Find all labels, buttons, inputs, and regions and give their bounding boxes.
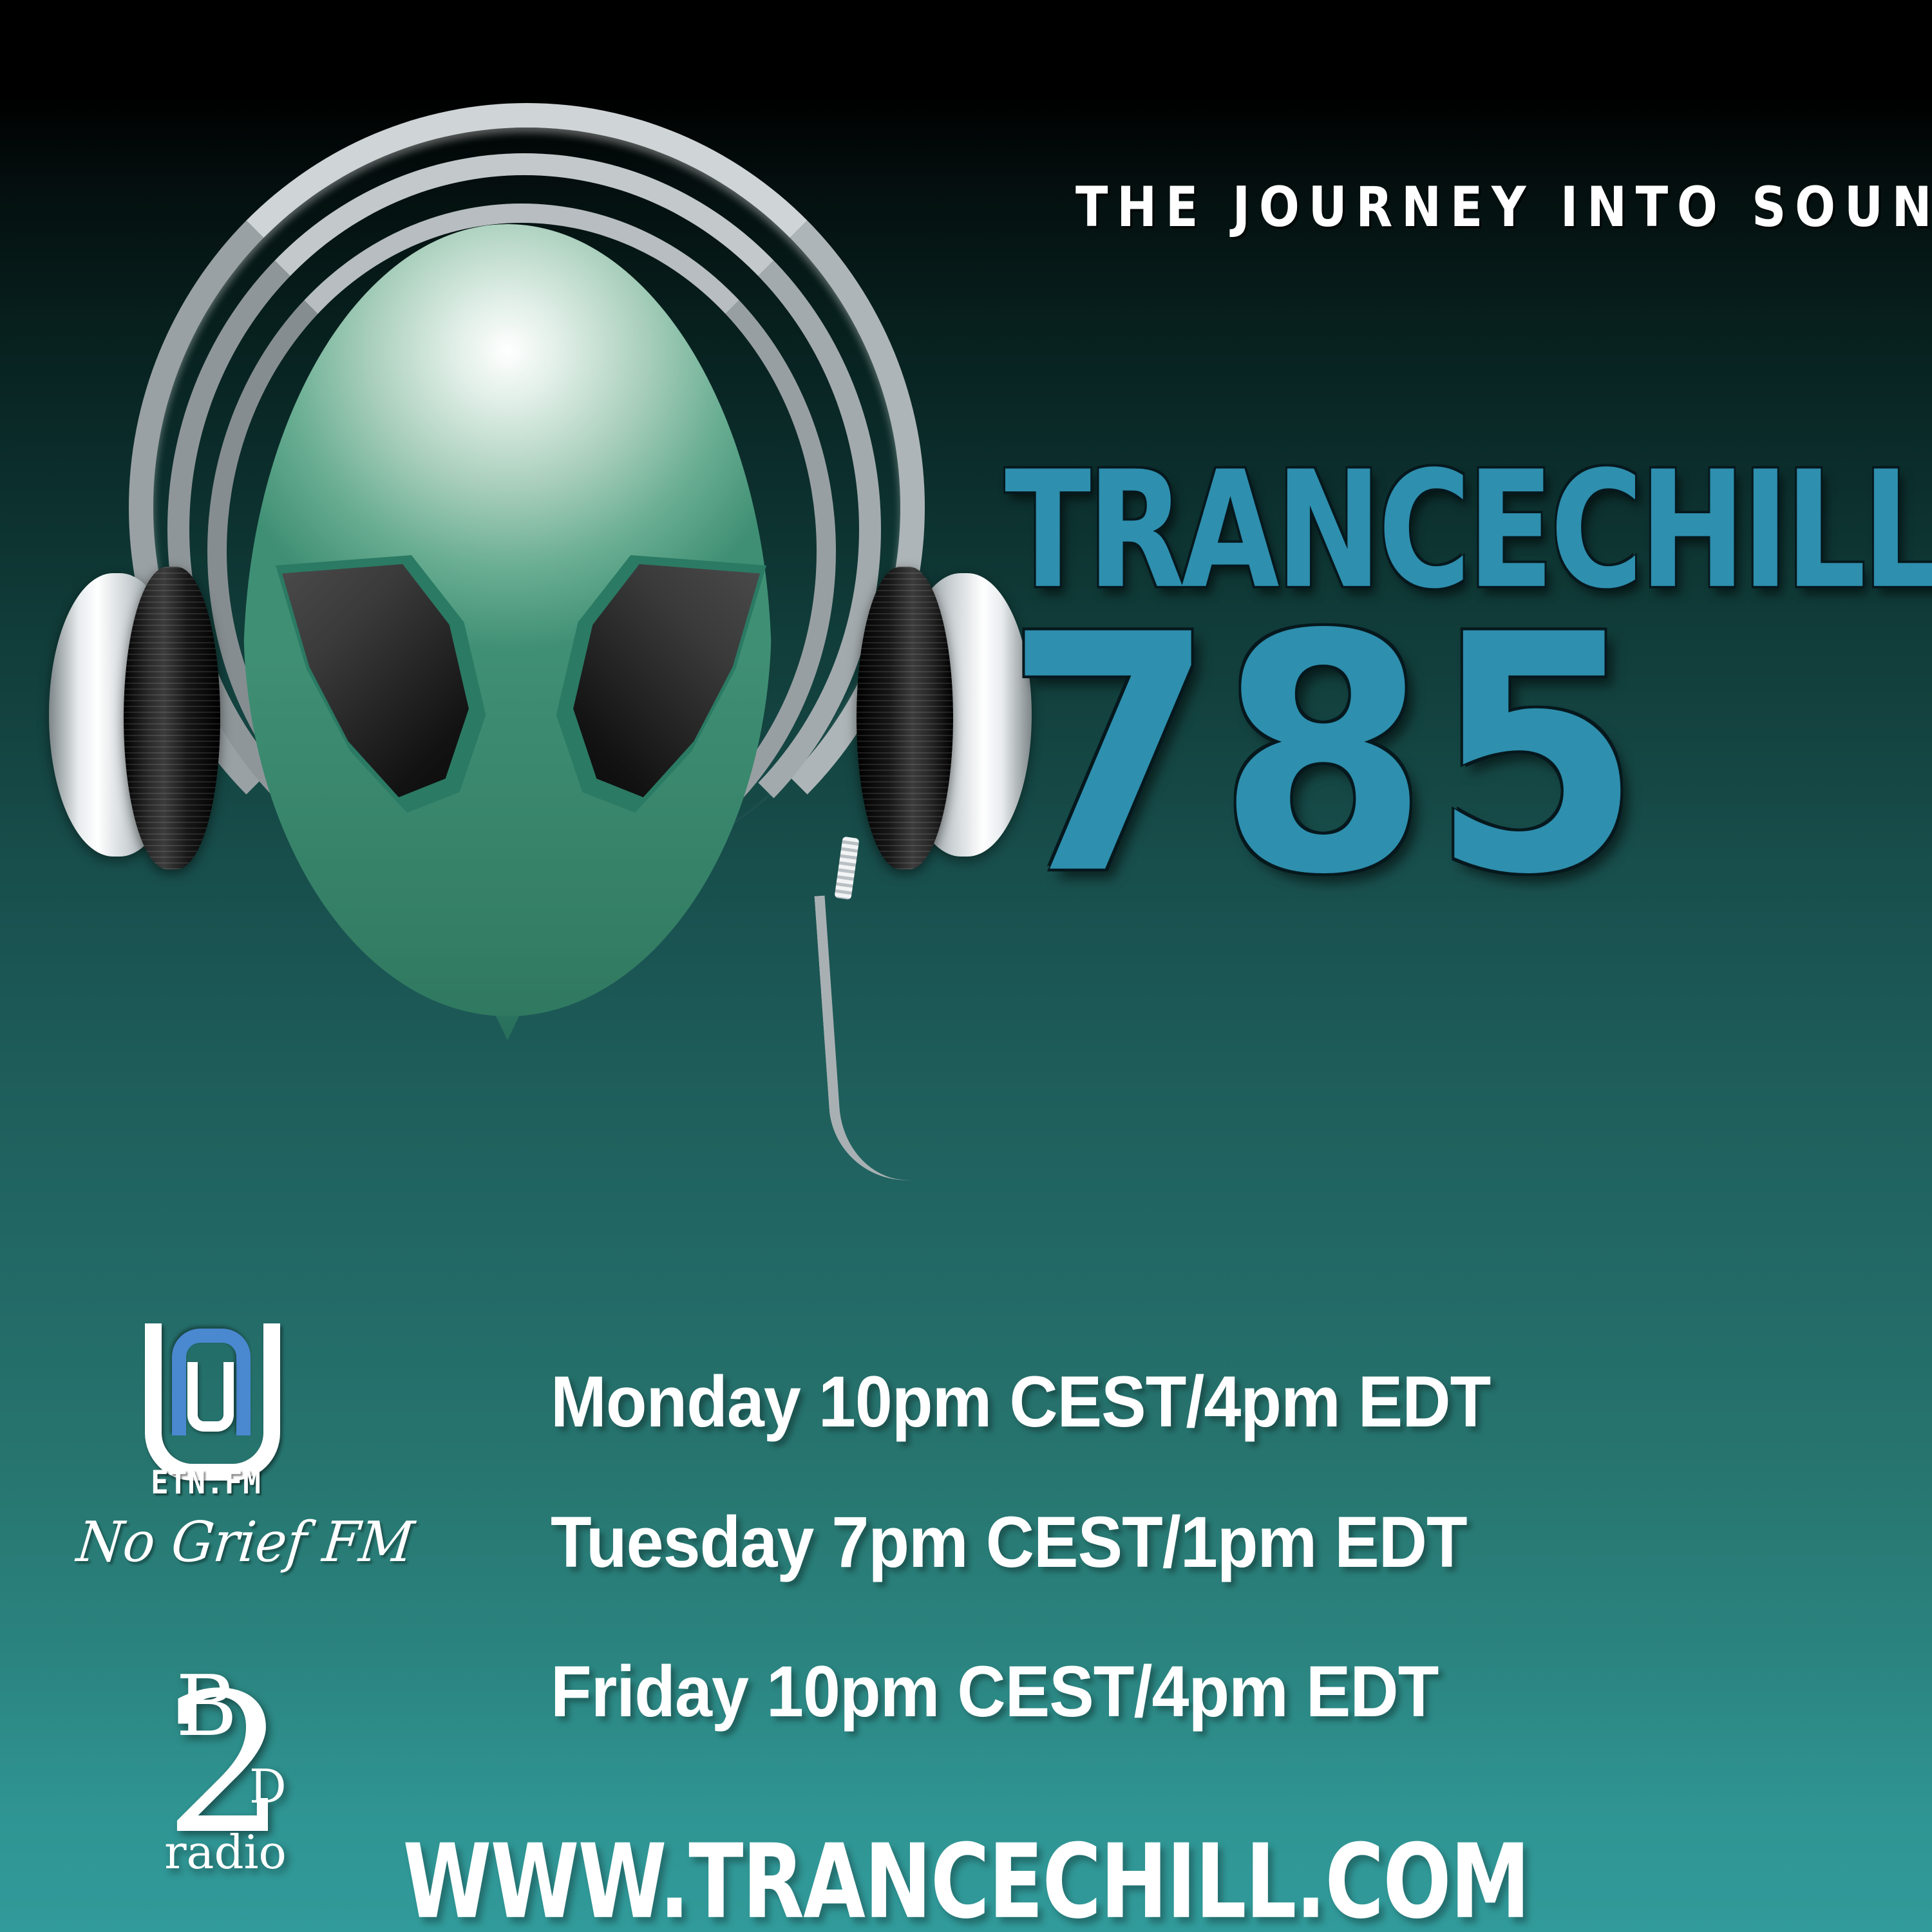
schedule-line-friday: Friday 10pm CEST/4pm EDT	[551, 1650, 1438, 1733]
episode-number: 785	[1005, 592, 1919, 920]
station-label-etn-fm: ETN.FM	[132, 1464, 280, 1501]
earcup-right-pad	[857, 567, 953, 869]
etn-u-inner-icon	[187, 1362, 234, 1432]
schedule-line-monday: Monday 10pm CEST/4pm EDT	[551, 1360, 1490, 1443]
station-logo-etn-fm[interactable]: ETN.FM	[126, 1323, 287, 1497]
tagline: THE JOURNEY INTO SOUND	[1075, 175, 1906, 240]
station-logo-no-grief-fm[interactable]: No Grief FM	[74, 1510, 375, 1575]
cable-cord	[814, 889, 928, 1185]
trancechill-poster: THE JOURNEY INTO SOUND TRANCECHILL 785 E…	[0, 0, 1932, 1932]
alien-eye-right-pupil	[565, 564, 760, 797]
b2d-letter-d-icon: D	[249, 1763, 287, 1810]
alien-eye-left	[276, 555, 495, 813]
alien-eye-right	[547, 555, 766, 813]
headphone-cable	[805, 837, 960, 1198]
website-url[interactable]: WWW.TRANCECHILL.COM	[116, 1823, 1816, 1932]
alien-eye-left-pupil	[282, 564, 477, 797]
schedule-line-tuesday: Tuesday 7pm CEST/1pm EDT	[551, 1501, 1467, 1584]
alien-headphones-artwork	[39, 77, 1043, 1249]
cable-strain-relief	[834, 837, 859, 900]
b2d-letter-b-icon: B	[176, 1664, 238, 1748]
earcup-left-pad	[124, 567, 220, 869]
